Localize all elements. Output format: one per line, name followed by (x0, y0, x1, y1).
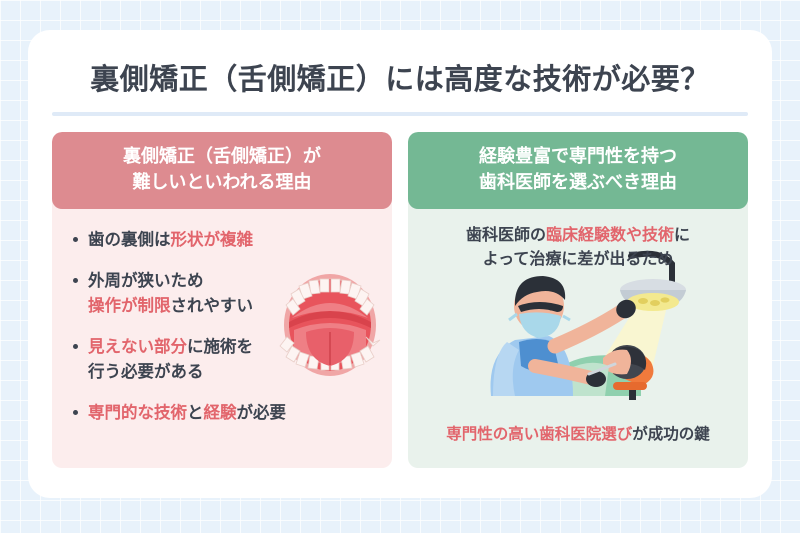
right-card-caption: 専門性の高い歯科医院選びが成功の鍵 (408, 422, 748, 444)
right-card-header: 経験豊富で専門性を持つ 歯科医師を選ぶべき理由 (408, 132, 748, 209)
bullet-text-highlight: 見えない部分 (88, 337, 187, 356)
page-title: 裏側矯正（舌側矯正）には高度な技術が必要？ (28, 56, 772, 98)
bullet-text-plain: 外周が狭いため (88, 271, 204, 290)
main-panel: 裏側矯正（舌側矯正）には高度な技術が必要？ 裏側矯正（舌側矯正）が 難しいといわ… (28, 30, 772, 498)
list-item: 歯の裏側は形状が複雑 (72, 227, 378, 252)
left-card-header: 裏側矯正（舌側矯正）が 難しいといわれる理由 (52, 132, 392, 209)
bullet-text-plain: と (187, 403, 204, 422)
bullet-text-plain: に施術を (187, 337, 253, 356)
right-card-header-line1: 経験豊富で専門性を持つ (418, 144, 738, 170)
list-item: 外周が狭いため 操作が制限されやすい (72, 268, 378, 318)
bullet-text-highlight-b: 経験 (204, 403, 237, 422)
left-card-header-line1: 裏側矯正（舌側矯正）が (62, 144, 382, 170)
left-card-header-line2: 難しいといわれる理由 (62, 170, 382, 196)
lead-plain-b: に (674, 225, 690, 244)
right-card-lead-text: 歯科医師の臨床経験数や技術に よって治療に差が出るため (408, 209, 748, 271)
bullet-text-highlight: 専門的な技術 (88, 403, 187, 422)
difficulty-reason-list: 歯の裏側は形状が複雑 外周が狭いため 操作が制限されやすい 見えない部分に施術を… (52, 209, 392, 425)
left-card-reasons-difficult: 裏側矯正（舌側矯正）が 難しいといわれる理由 (52, 132, 392, 468)
bullet-text-highlight: 形状が複雑 (171, 230, 254, 249)
caption-plain: が成功の鍵 (632, 425, 710, 443)
dentist-treating-patient-illustration (463, 250, 693, 400)
lead-plain-a: 歯科医師の (466, 225, 546, 244)
bullet-text-plain-b: が必要 (237, 403, 287, 422)
lead-highlight: 臨床経験数や技術 (546, 225, 674, 244)
bullet-text-plain: 歯の裏側は (88, 230, 171, 249)
right-card-header-line2: 歯科医師を選ぶべき理由 (418, 170, 738, 196)
right-card-choose-specialist: 経験豊富で専門性を持つ 歯科医師を選ぶべき理由 歯科医師の臨床経験数や技術に よ… (408, 132, 748, 468)
bullet-text-plain-b: 行う必要がある (88, 362, 204, 381)
title-divider (52, 112, 748, 116)
bullet-text-highlight: 操作が制限 (88, 296, 171, 315)
caption-highlight: 専門性の高い歯科医院選び (446, 425, 632, 443)
bullet-text-plain-b: されやすい (171, 296, 254, 315)
list-item: 見えない部分に施術を 行う必要がある (72, 334, 378, 384)
lead-line2: よって治療に差が出るため (483, 249, 674, 268)
cards-container: 裏側矯正（舌側矯正）が 難しいといわれる理由 (52, 132, 748, 468)
list-item: 専門的な技術と経験が必要 (72, 400, 378, 425)
